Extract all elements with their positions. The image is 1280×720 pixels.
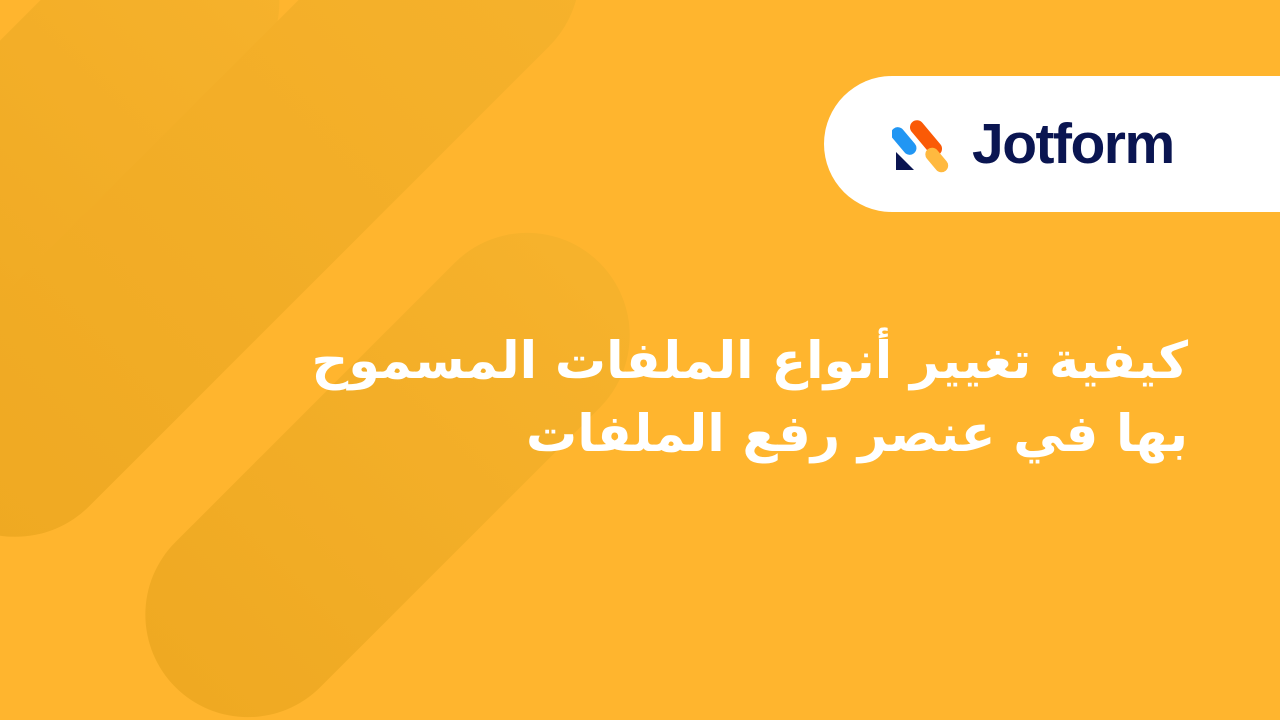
jotform-wordmark: Jotform <box>972 116 1174 173</box>
page-title: كيفية تغيير أنواع الملفات المسموح بها في… <box>300 326 1188 471</box>
logo-pill: Jotform <box>824 76 1280 212</box>
jotform-logo-mark <box>892 113 954 175</box>
diagonal-stripe-1 <box>0 0 321 399</box>
jotform-banner: Jotform كيفية تغيير أنواع الملفات المسمو… <box>0 0 1280 720</box>
jotform-logo[interactable]: Jotform <box>892 113 1174 175</box>
diagonal-stripe-2 <box>0 0 623 580</box>
